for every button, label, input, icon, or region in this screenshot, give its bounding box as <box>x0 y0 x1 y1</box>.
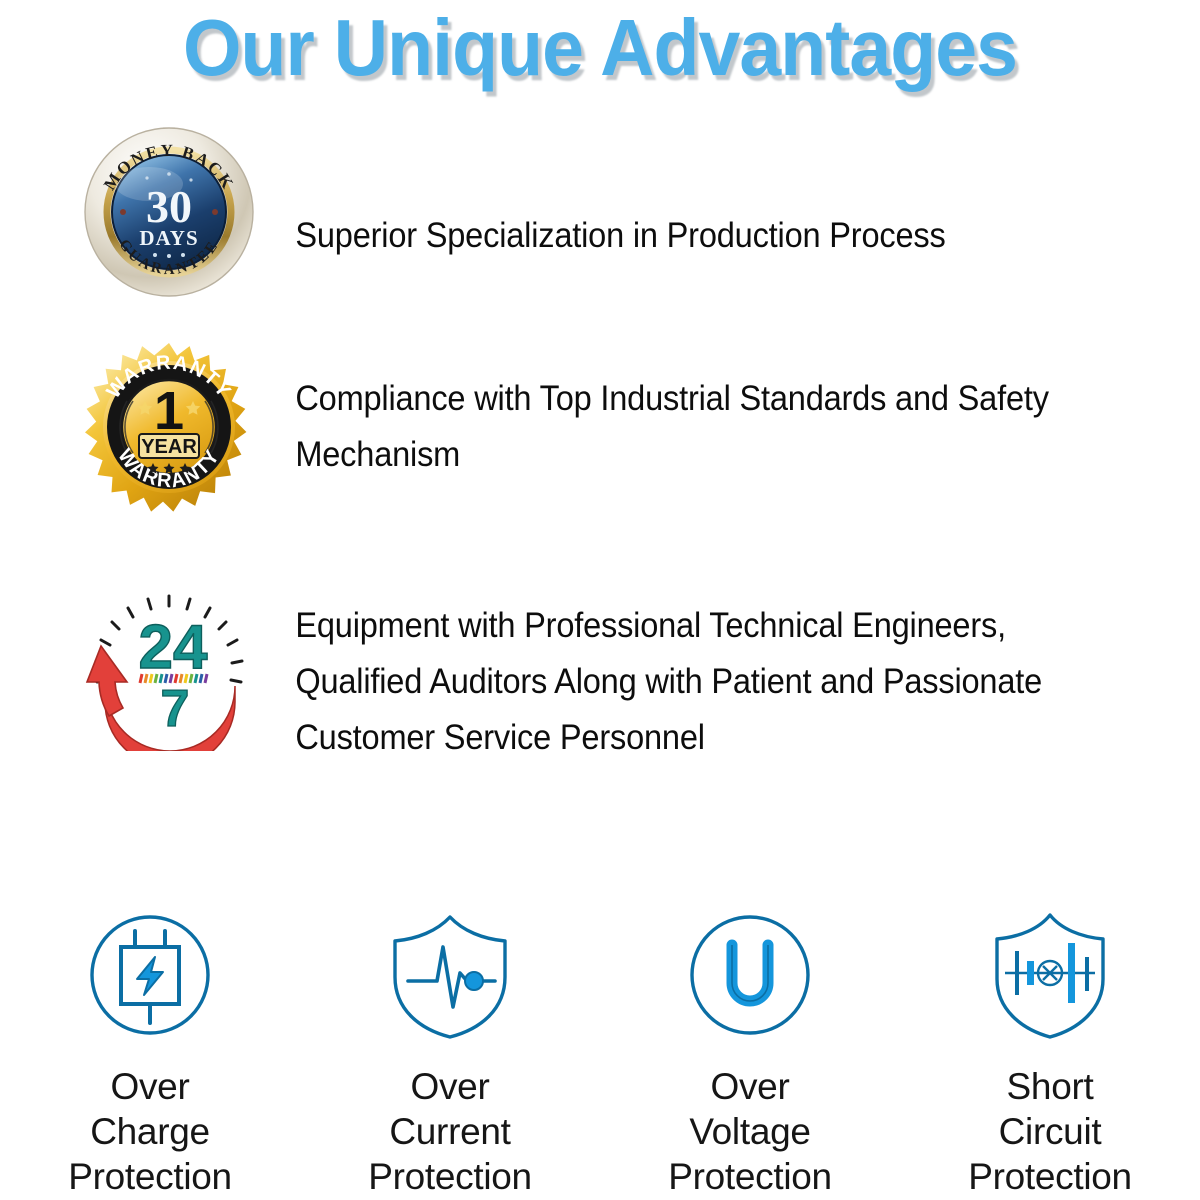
short-circuit-shield-icon <box>970 900 1130 1050</box>
protection-item-over-charge: Over Charge Protection <box>0 900 300 1199</box>
over-current-shield-pulse-icon <box>370 900 530 1050</box>
24-7-services-badge: 24 <box>78 586 260 751</box>
protection-label-line3: Protection <box>368 1154 532 1199</box>
advantage-text: Compliance with Top Industrial Standards… <box>260 341 1134 483</box>
24-7-services-seal-icon: 24 <box>83 586 255 751</box>
svg-text:YEAR: YEAR <box>141 436 197 458</box>
svg-text:24: 24 <box>139 613 208 682</box>
page-title: Our Unique Advantages <box>36 0 1164 94</box>
protection-label-line2: Charge <box>68 1109 232 1154</box>
advantage-row: MONEY BACK GUARANTEE 30 DAYS Superior Sp… <box>0 126 1200 341</box>
protection-label-line3: Protection <box>68 1154 232 1199</box>
advantage-row: 24 <box>0 586 1200 776</box>
protection-label: Over Charge Protection <box>68 1064 232 1199</box>
advantage-row: WARRANTY WARRANTY 1 YEAR Compli <box>0 341 1200 586</box>
protection-label-line2: Current <box>368 1109 532 1154</box>
protection-label-line3: Protection <box>968 1154 1132 1199</box>
advantages-list: MONEY BACK GUARANTEE 30 DAYS Superior Sp… <box>0 126 1200 776</box>
one-year-warranty-badge: WARRANTY WARRANTY 1 YEAR <box>78 341 260 513</box>
protection-label-line1: Short <box>968 1064 1132 1109</box>
svg-text:30: 30 <box>146 181 192 232</box>
protection-label-line1: Over <box>368 1064 532 1109</box>
one-year-warranty-seal-icon: WARRANTY WARRANTY 1 YEAR <box>83 341 255 513</box>
protection-label-line2: Circuit <box>968 1109 1132 1154</box>
advantage-text: Superior Specialization in Production Pr… <box>260 126 1134 264</box>
protection-label: Over Current Protection <box>368 1064 532 1199</box>
svg-text:DAYS: DAYS <box>139 226 198 250</box>
advantage-text: Equipment with Professional Technical En… <box>260 586 1134 766</box>
over-charge-plug-icon <box>70 900 230 1050</box>
protection-label-line1: Over <box>68 1064 232 1109</box>
protection-item-over-voltage: Over Voltage Protection <box>600 900 900 1199</box>
over-voltage-u-icon <box>670 900 830 1050</box>
money-back-guarantee-seal-icon: MONEY BACK GUARANTEE 30 DAYS <box>83 126 255 298</box>
protection-label-line2: Voltage <box>668 1109 832 1154</box>
protection-item-over-current: Over Current Protection <box>300 900 600 1199</box>
protection-features-strip: Over Charge Protection Over Current Prot… <box>0 900 1200 1199</box>
protection-item-short-circuit: Short Circuit Protection <box>900 900 1200 1199</box>
protection-label: Over Voltage Protection <box>668 1064 832 1199</box>
svg-text:1: 1 <box>154 381 184 441</box>
protection-label: Short Circuit Protection <box>968 1064 1132 1199</box>
protection-label-line1: Over <box>668 1064 832 1109</box>
protection-label-line3: Protection <box>668 1154 832 1199</box>
money-back-guarantee-badge: MONEY BACK GUARANTEE 30 DAYS <box>78 126 260 298</box>
